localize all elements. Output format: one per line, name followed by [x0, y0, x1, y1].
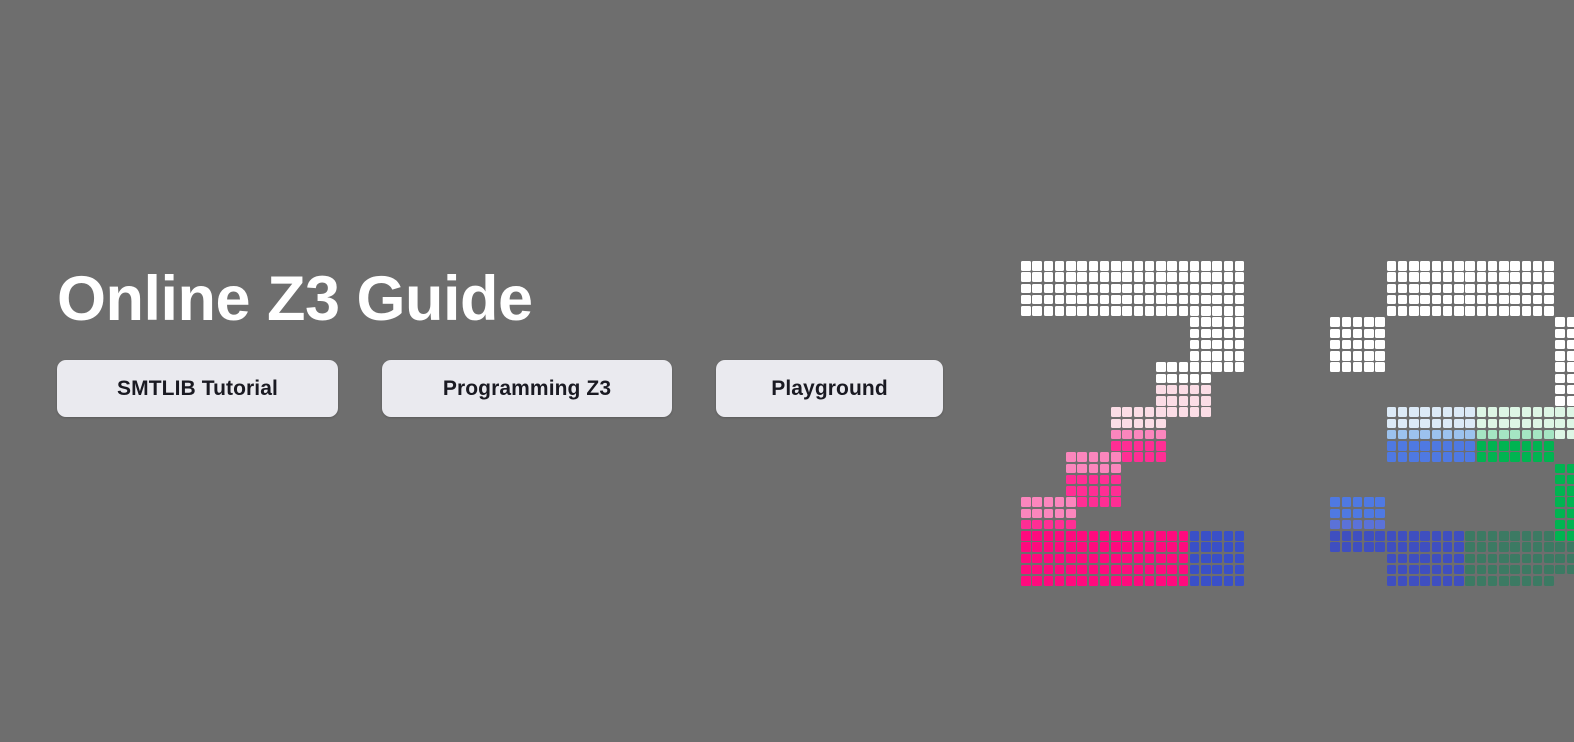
page-title: Online Z3 Guide: [57, 262, 957, 336]
z3-pixel-logo: [1021, 261, 1521, 581]
hero-section: Online Z3 Guide SMTLIB Tutorial Programm…: [57, 262, 957, 417]
page-root: Online Z3 Guide SMTLIB Tutorial Programm…: [0, 0, 1574, 742]
programming-z3-button[interactable]: Programming Z3: [382, 360, 672, 417]
hero-button-group: SMTLIB Tutorial Programming Z3 Playgroun…: [57, 360, 957, 417]
playground-button[interactable]: Playground: [716, 360, 943, 417]
smtlib-tutorial-button[interactable]: SMTLIB Tutorial: [57, 360, 338, 417]
